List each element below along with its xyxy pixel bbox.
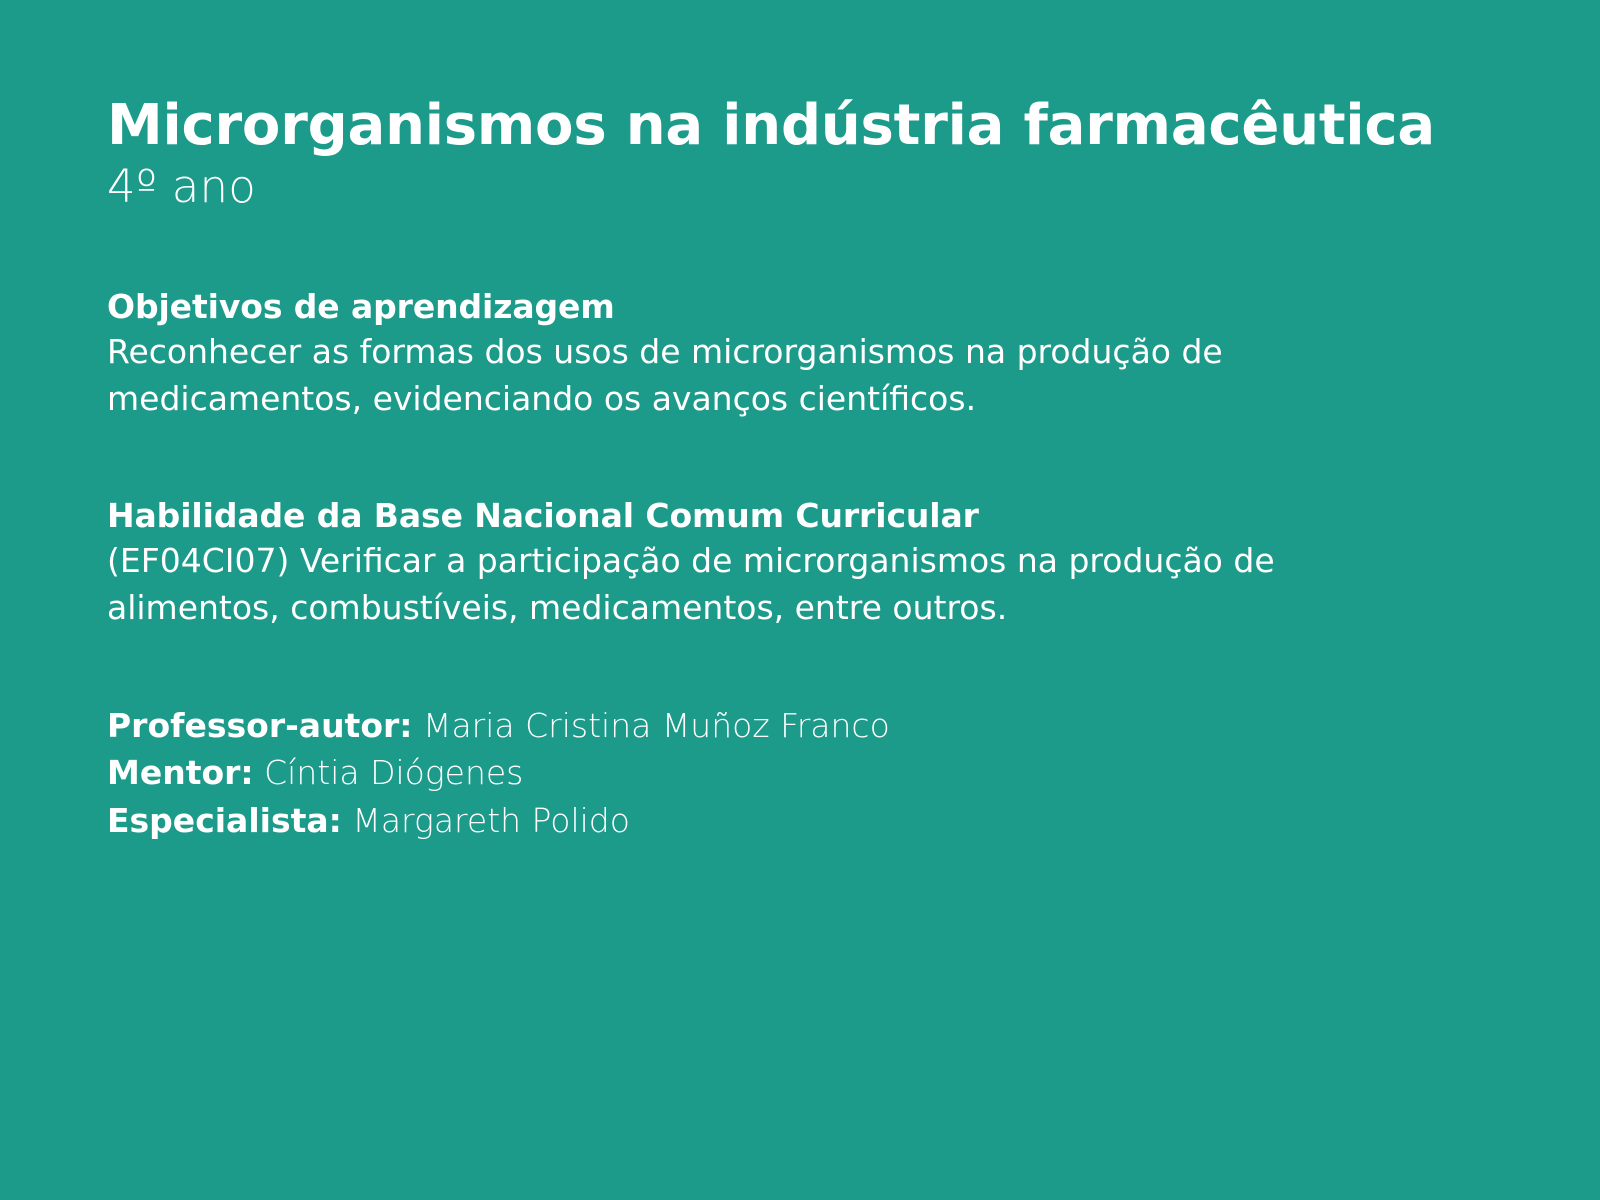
credits-block: Professor-autor: Maria Cristina Muñoz Fr… <box>107 702 1367 845</box>
credit-line-professor-autor: Professor-autor: Maria Cristina Muñoz Fr… <box>107 702 1367 750</box>
credit-label-mentor: Mentor: <box>107 753 254 792</box>
credit-line-mentor: Mentor: Cíntia Diógenes <box>107 749 1367 797</box>
section-heading-learning-objectives: Objetivos de aprendizagem <box>107 286 1367 327</box>
page-subtitle: 4º ano <box>107 160 1367 213</box>
credit-name-professor-autor: Maria Cristina Muñoz Franco <box>423 706 890 745</box>
credit-name-mentor: Cíntia Diógenes <box>264 753 523 792</box>
credit-label-especialista: Especialista: <box>107 801 342 840</box>
section-heading-bncc-skill: Habilidade da Base Nacional Comum Curric… <box>107 495 1367 536</box>
section-body-learning-objectives: Reconhecer as formas dos usos de microrg… <box>107 329 1359 423</box>
credit-line-especialista: Especialista: Margareth Polido <box>107 797 1367 845</box>
page-title: Microrganismos na indústria farmacêutica <box>107 96 1367 156</box>
credit-label-professor-autor: Professor-autor: <box>107 706 412 745</box>
content-column: Microrganismos na indústria farmacêutica… <box>107 96 1367 844</box>
title-block: Microrganismos na indústria farmacêutica… <box>107 96 1367 214</box>
section-learning-objectives: Objetivos de aprendizagem Reconhecer as … <box>107 286 1367 423</box>
slide-root: Microrganismos na indústria farmacêutica… <box>0 0 1600 1200</box>
credit-name-especialista: Margareth Polido <box>352 801 630 840</box>
section-bncc-skill: Habilidade da Base Nacional Comum Curric… <box>107 495 1367 632</box>
section-body-bncc-skill: (EF04CI07) Verificar a participação de m… <box>107 538 1359 632</box>
